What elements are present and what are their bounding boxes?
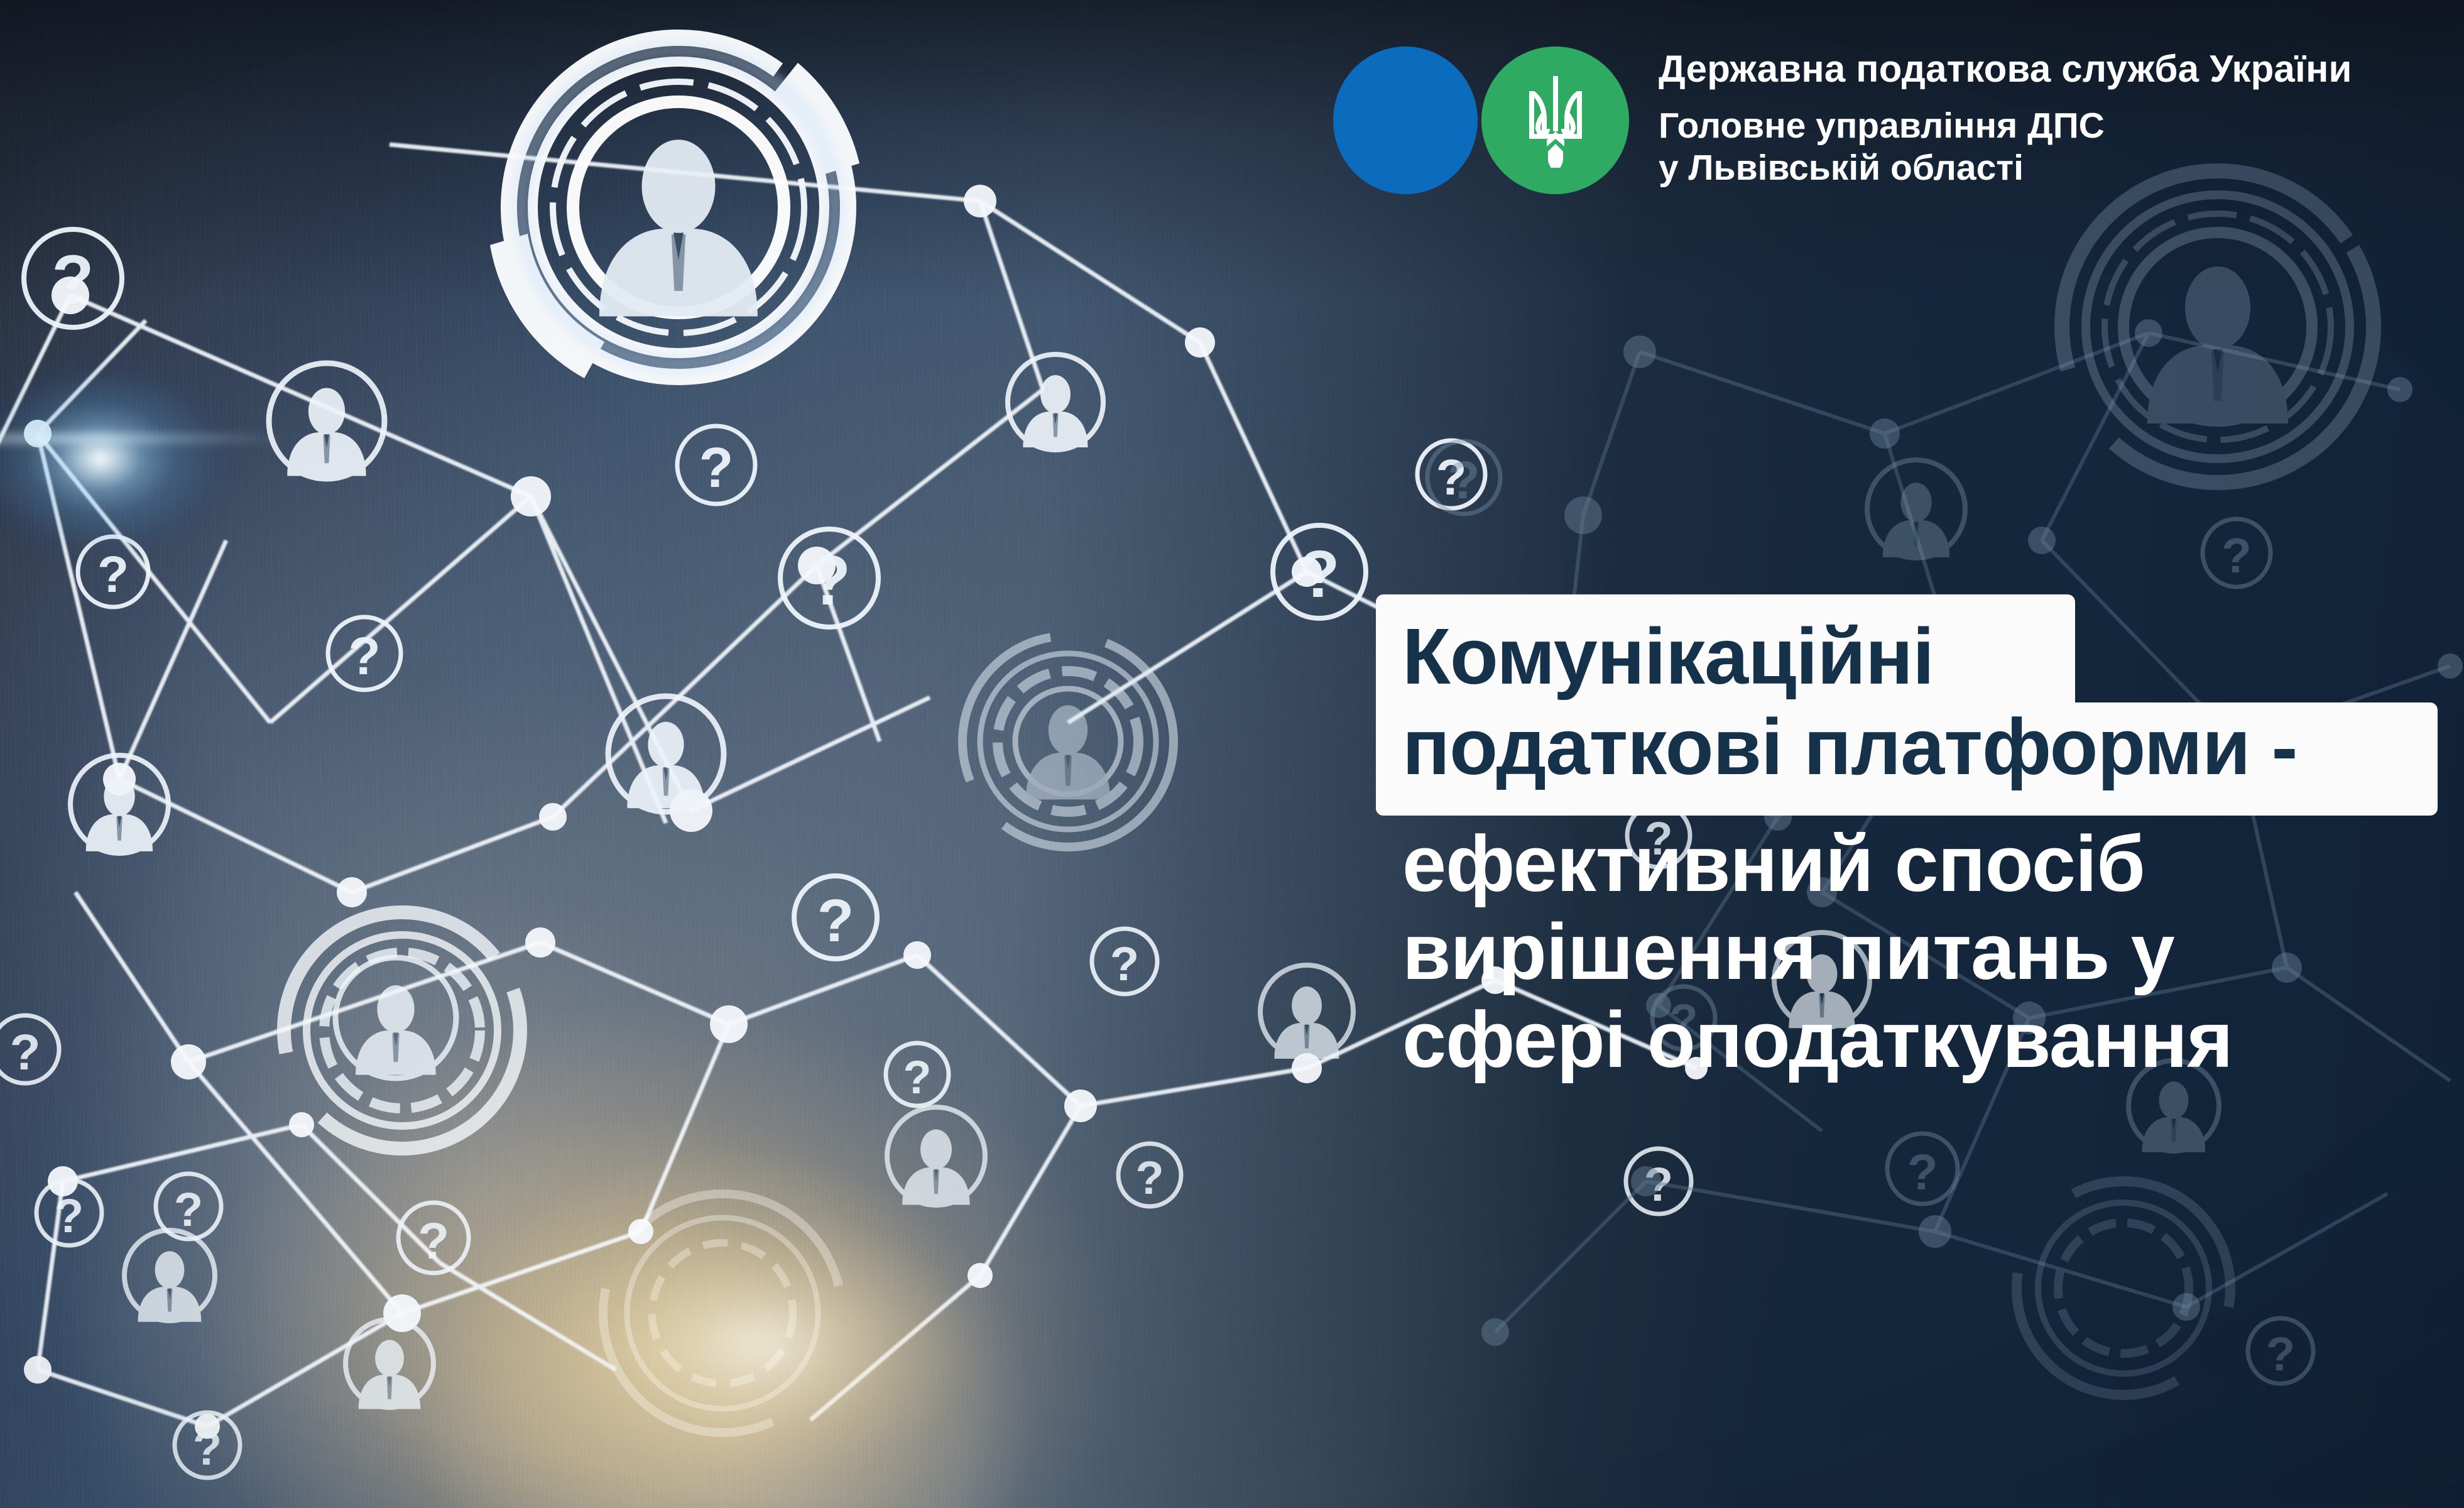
poster-canvas: ? ? ? ? ? ? ? ? ? ? ? ? — [0, 0, 2464, 1508]
headline-line-5: сфері оподаткування — [1376, 1000, 2444, 1079]
logo-line-2: Головне управління ДПС — [1659, 105, 2352, 146]
logo-line-1: Державна податкова служба України — [1659, 48, 2352, 90]
headline-line-1: Комунікаційні — [1376, 594, 2444, 696]
logo-text-block: Державна податкова служба України Головн… — [1659, 48, 2352, 188]
agency-logo: Державна податкова служба України Головн… — [1333, 41, 2352, 199]
headline-boxed-lines: Комунікаційні податкові платформи - — [1376, 594, 2444, 816]
headline-line-4: вирішення питань у — [1376, 912, 2444, 992]
logo-marks — [1333, 41, 1666, 199]
headline-line-2: податкові платформи - — [1376, 696, 2444, 787]
logo-line-3: у Львівській області — [1659, 147, 2352, 188]
headline-line-3: ефективний спосіб — [1376, 824, 2444, 904]
blue-circle-icon — [1333, 46, 1478, 194]
ukraine-trident-icon — [1522, 74, 1589, 168]
headline-block: Комунікаційні податкові платформи - ефек… — [1376, 594, 2444, 1079]
green-circle-icon — [1481, 46, 1629, 194]
